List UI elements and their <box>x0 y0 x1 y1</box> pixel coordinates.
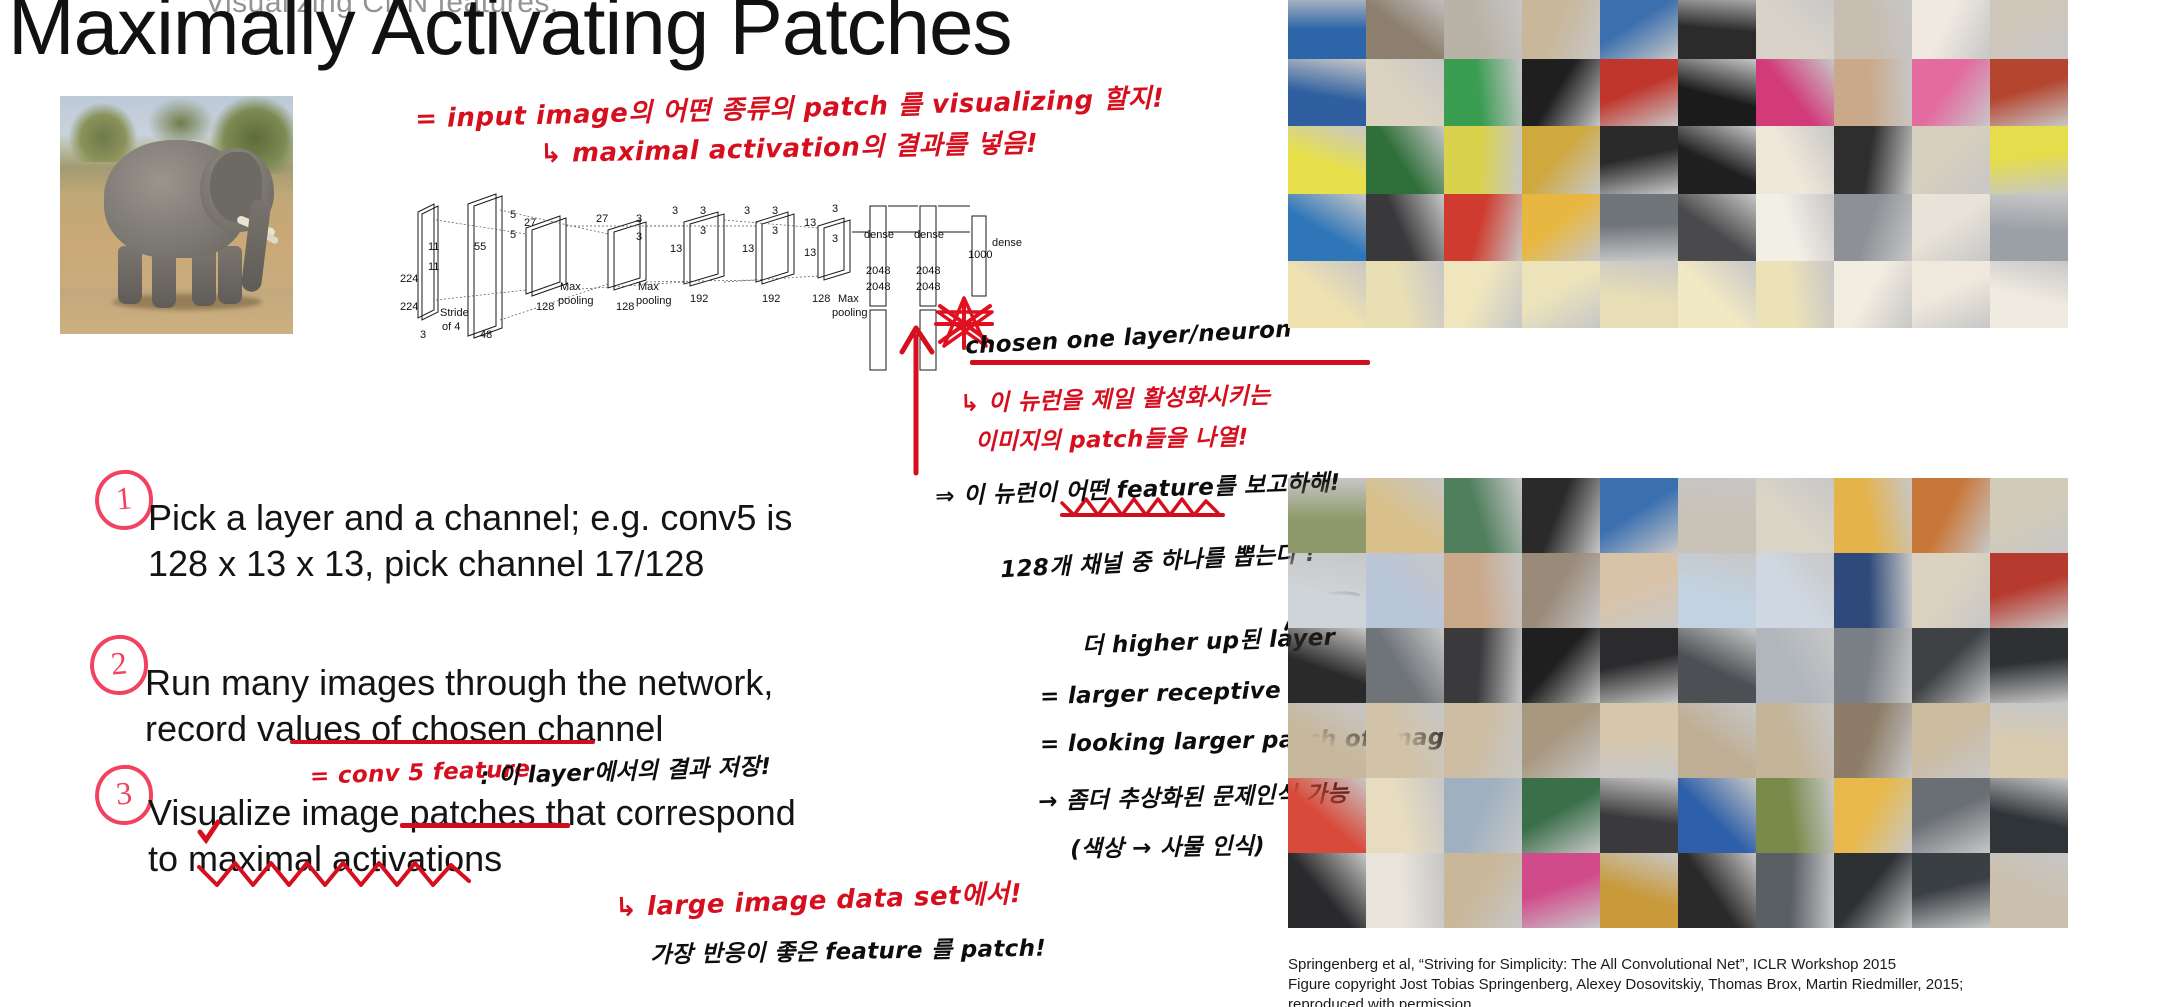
patch-cell <box>1912 59 1990 126</box>
patch-cell <box>1678 553 1756 628</box>
svg-text:13: 13 <box>670 243 682 255</box>
svg-text:3: 3 <box>832 203 838 215</box>
bullet-text-1: Pick a layer and a channel; e.g. conv5 i… <box>148 495 792 587</box>
patch-cell <box>1522 194 1600 261</box>
patch-cell <box>1990 0 2068 59</box>
elephant-photo <box>60 96 293 334</box>
patch-cell <box>1522 478 1600 553</box>
patch-cell <box>1600 853 1678 928</box>
elephant-leg <box>152 250 176 308</box>
patch-cell <box>1990 628 2068 703</box>
svg-text:of 4: of 4 <box>442 321 460 333</box>
patch-cell <box>1288 126 1366 193</box>
svg-text:dense: dense <box>914 229 944 241</box>
patch-cell <box>1756 59 1834 126</box>
patch-cell <box>1678 126 1756 193</box>
svg-text:dense: dense <box>864 229 894 241</box>
patch-cell <box>1444 478 1522 553</box>
patch-cell <box>1288 261 1366 328</box>
svg-text:3: 3 <box>832 233 838 245</box>
citation-line-2: Figure copyright Jost Tobias Springenber… <box>1288 975 2148 995</box>
svg-text:192: 192 <box>690 293 708 305</box>
patch-cell <box>1990 59 2068 126</box>
svg-text:13: 13 <box>804 217 816 229</box>
handwriting-channel-128: 128개 채널 중 하나를 뽑는다 ! <box>999 534 1316 584</box>
patch-cell <box>1990 553 2068 628</box>
patch-cell <box>1990 478 2068 553</box>
patch-cell <box>1756 0 1834 59</box>
patch-cell <box>1912 126 1990 193</box>
svg-text:3: 3 <box>420 329 426 341</box>
patch-cell <box>1288 59 1366 126</box>
patch-cell <box>1678 59 1756 126</box>
patch-cell <box>1444 853 1522 928</box>
svg-text:3: 3 <box>636 213 642 225</box>
patch-cell <box>1834 703 1912 778</box>
patch-cell <box>1444 0 1522 59</box>
patch-cell <box>1912 553 1990 628</box>
bullet-number-2: 2 <box>87 633 150 698</box>
patch-cell <box>1366 478 1444 553</box>
svg-text:3: 3 <box>772 225 778 237</box>
patch-cell <box>1366 853 1444 928</box>
patch-cell <box>1834 628 1912 703</box>
svg-text:13: 13 <box>742 243 754 255</box>
patch-cell <box>1834 126 1912 193</box>
patch-cell <box>1444 261 1522 328</box>
bullet-number-3: 3 <box>92 763 155 828</box>
patch-cell <box>1990 853 2068 928</box>
citation-line-3: reproduced with permission. <box>1288 995 2148 1007</box>
patch-cell <box>1756 628 1834 703</box>
patch-cell <box>1912 703 1990 778</box>
red-check-mark <box>196 818 224 844</box>
tree-foliage <box>148 98 214 140</box>
svg-text:2048: 2048 <box>916 265 940 277</box>
patch-cell <box>1288 478 1366 553</box>
svg-text:11: 11 <box>428 261 439 273</box>
patch-cell <box>1990 194 2068 261</box>
citation-block: Springenberg et al, “Striving for Simpli… <box>1288 955 2148 1007</box>
handwriting-right-line-5: (색상 → 사물 인식) <box>1070 826 1265 863</box>
maximally-activating-patches-grid-bottom <box>1288 478 2068 928</box>
patch-cell <box>1288 0 1366 59</box>
svg-text:48: 48 <box>480 329 492 341</box>
handwriting-neuron-line-2: 이미지의 patch들을 나열! <box>975 418 1249 457</box>
svg-text:128: 128 <box>616 301 634 313</box>
patch-cell <box>1756 778 1834 853</box>
patch-cell <box>1288 553 1366 628</box>
patch-cell <box>1834 778 1912 853</box>
svg-text:3: 3 <box>700 225 706 237</box>
patch-cell <box>1600 0 1678 59</box>
patch-cell <box>1912 194 1990 261</box>
svg-text:5: 5 <box>510 229 516 241</box>
svg-text:55: 55 <box>474 241 486 253</box>
patch-cell <box>1366 628 1444 703</box>
patch-cell <box>1756 194 1834 261</box>
page-title: Maximally Activating Patches <box>8 0 1012 72</box>
patch-cell <box>1912 778 1990 853</box>
patch-cell <box>1756 478 1834 553</box>
svg-text:Max: Max <box>560 281 581 293</box>
patch-cell <box>1834 553 1912 628</box>
patch-cell <box>1366 126 1444 193</box>
red-underline-patches <box>400 823 570 828</box>
svg-text:224: 224 <box>400 301 418 313</box>
patch-cell <box>1522 628 1600 703</box>
patch-cell <box>1366 778 1444 853</box>
patch-cell <box>1288 703 1366 778</box>
svg-text:5: 5 <box>510 209 516 221</box>
patch-cell <box>1600 553 1678 628</box>
patch-cell <box>1912 478 1990 553</box>
patch-cell <box>1834 261 1912 328</box>
patch-cell <box>1366 59 1444 126</box>
patch-cell <box>1990 126 2068 193</box>
patch-cell <box>1444 703 1522 778</box>
patch-cell <box>1600 59 1678 126</box>
patch-cell <box>1366 553 1444 628</box>
patch-cell <box>1912 0 1990 59</box>
patch-cell <box>1522 59 1600 126</box>
elephant-leg <box>218 246 242 304</box>
patch-cell <box>1834 59 1912 126</box>
patch-cell <box>1834 853 1912 928</box>
svg-text:27: 27 <box>524 217 536 229</box>
svg-text:192: 192 <box>762 293 780 305</box>
patch-cell <box>1522 126 1600 193</box>
patch-cell <box>1756 703 1834 778</box>
patch-cell <box>1288 853 1366 928</box>
svg-text:Max: Max <box>838 293 859 305</box>
patch-cell <box>1756 553 1834 628</box>
svg-text:224: 224 <box>400 273 418 285</box>
patch-cell <box>1600 478 1678 553</box>
bullet-number-1: 1 <box>92 468 155 533</box>
patch-cell <box>1522 853 1600 928</box>
svg-text:pooling: pooling <box>832 307 867 319</box>
patch-cell <box>1678 853 1756 928</box>
svg-text:3: 3 <box>672 205 678 217</box>
patch-cell <box>1912 853 1990 928</box>
patch-cell <box>1444 59 1522 126</box>
svg-text:pooling: pooling <box>558 295 593 307</box>
svg-text:2048: 2048 <box>866 265 890 277</box>
patch-cell <box>1444 126 1522 193</box>
patch-cell <box>1834 194 1912 261</box>
patch-cell <box>1600 261 1678 328</box>
svg-text:3: 3 <box>700 205 706 217</box>
citation-line-1: Springenberg et al, “Striving for Simpli… <box>1288 955 2148 975</box>
patch-cell <box>1600 126 1678 193</box>
patch-cell <box>1990 778 2068 853</box>
patch-cell <box>1834 0 1912 59</box>
patch-cell <box>1678 703 1756 778</box>
handwriting-bottom-korean: 가장 반응이 좋은 feature 를 patch! <box>650 929 1047 970</box>
bullet-text-2: Run many images through the network, rec… <box>145 660 773 752</box>
handwriting-top-line-1: = input image의 어떤 종류의 patch 를 visualizin… <box>415 78 1165 136</box>
patch-cell <box>1678 0 1756 59</box>
patch-cell <box>1366 703 1444 778</box>
patch-cell <box>1600 628 1678 703</box>
patch-cell <box>1600 703 1678 778</box>
handwriting-neuron-line-3: ⇒ 이 뉴런이 어떤 feature를 보고하해! <box>935 463 1341 511</box>
red-squiggle-maximal-activations <box>195 855 515 891</box>
patch-cell <box>1990 261 2068 328</box>
svg-text:11: 11 <box>428 241 439 253</box>
svg-text:13: 13 <box>804 247 816 259</box>
svg-text:3: 3 <box>636 231 642 243</box>
alexnet-diagram: 224 224 3 11 11 Stride of 4 48 55 5 5 27… <box>400 190 1150 405</box>
patch-cell <box>1288 194 1366 261</box>
svg-text:2048: 2048 <box>916 281 940 293</box>
red-underline-chosen-layer <box>970 360 1370 365</box>
handwriting-layer-result: : 이 layer에서의 결과 저장! <box>479 747 771 791</box>
patch-cell <box>1288 628 1366 703</box>
patch-cell <box>1366 0 1444 59</box>
patch-cell <box>1522 778 1600 853</box>
patch-cell <box>1600 194 1678 261</box>
svg-text:Max: Max <box>638 281 659 293</box>
patch-cell <box>1912 261 1990 328</box>
patch-cell <box>1912 628 1990 703</box>
elephant-leg <box>118 246 142 304</box>
svg-text:Stride: Stride <box>440 307 469 319</box>
patch-cell <box>1834 478 1912 553</box>
svg-text:dense: dense <box>992 237 1022 249</box>
patch-cell <box>1678 778 1756 853</box>
svg-text:3: 3 <box>772 205 778 217</box>
handwriting-neuron-line-1: ↳ 이 뉴런을 제일 활성화시키는 <box>960 376 1271 418</box>
patch-cell <box>1444 194 1522 261</box>
patch-cell <box>1522 0 1600 59</box>
patch-cell <box>1678 628 1756 703</box>
patch-cell <box>1288 778 1366 853</box>
patch-cell <box>1756 126 1834 193</box>
svg-text:128: 128 <box>812 293 830 305</box>
svg-text:pooling: pooling <box>636 295 671 307</box>
patch-cell <box>1522 703 1600 778</box>
patch-cell <box>1678 194 1756 261</box>
red-underline-chosen-channel <box>290 740 595 744</box>
patch-cell <box>1756 853 1834 928</box>
patch-cell <box>1990 703 2068 778</box>
maximally-activating-patches-grid-top <box>1288 0 2068 328</box>
patch-cell <box>1678 261 1756 328</box>
patch-cell <box>1756 261 1834 328</box>
svg-text:3: 3 <box>744 205 750 217</box>
patch-cell <box>1522 553 1600 628</box>
patch-cell <box>1678 478 1756 553</box>
red-arrow-up-icon <box>880 318 950 478</box>
patch-cell <box>1366 194 1444 261</box>
slide-root: Visualizing CNN features: Maximally Acti… <box>0 0 2160 1007</box>
patch-cell <box>1444 628 1522 703</box>
patch-cell <box>1600 778 1678 853</box>
patch-cell <box>1522 261 1600 328</box>
patch-cell <box>1444 778 1522 853</box>
patch-cell <box>1366 261 1444 328</box>
svg-text:27: 27 <box>596 213 608 225</box>
svg-text:1000: 1000 <box>968 249 992 261</box>
svg-text:2048: 2048 <box>866 281 890 293</box>
patch-cell <box>1444 553 1522 628</box>
